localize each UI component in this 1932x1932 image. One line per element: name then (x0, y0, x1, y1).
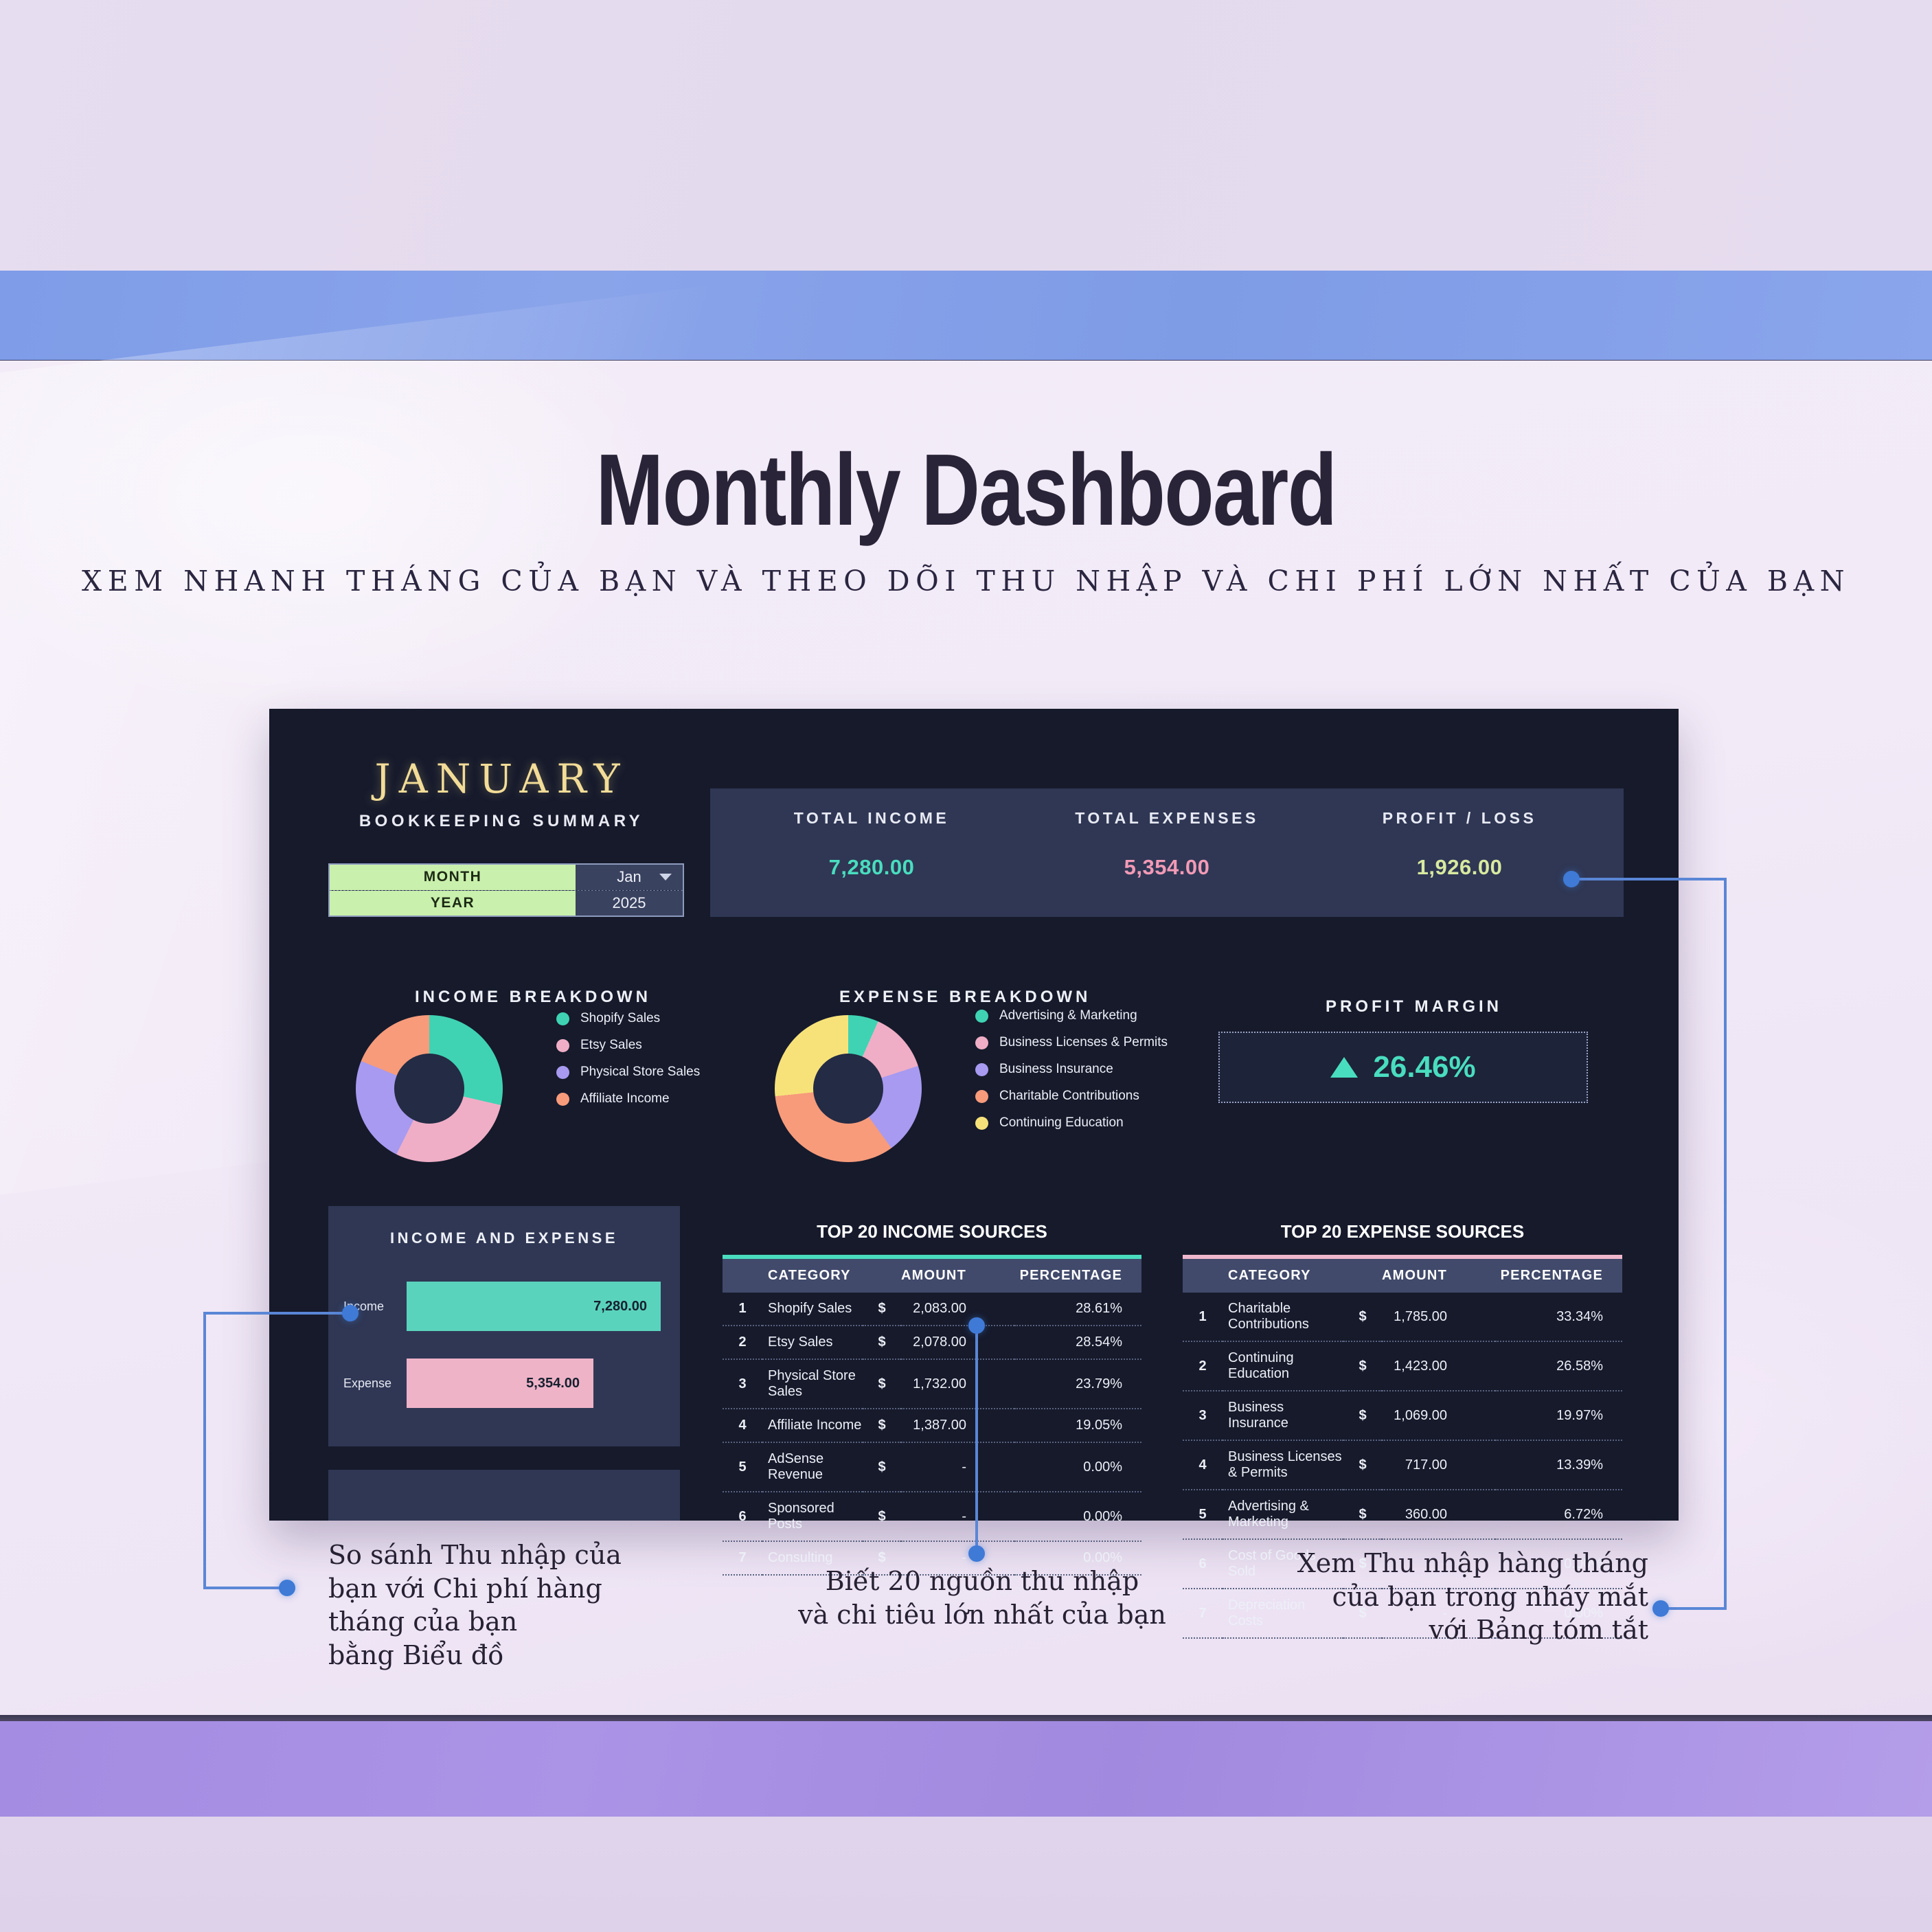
hero-header: Monthly Dashboard XEM NHANH THÁNG CỦA BẠ… (0, 440, 1932, 598)
wall-bottom-band (0, 1817, 1932, 1932)
legend-swatch-icon (975, 1063, 988, 1076)
triangle-up-icon (1330, 1057, 1358, 1078)
profit-margin-box: 26.46% (1218, 1032, 1588, 1103)
callout-line: với Bảng tóm tắt (1236, 1613, 1648, 1647)
th-index (723, 1259, 762, 1293)
bar-row-income: Income 7,280.00 (343, 1282, 666, 1331)
profit-margin-value: 26.46% (1373, 1050, 1475, 1084)
cell-category: Business Licenses & Permits (1223, 1440, 1343, 1490)
cell-currency: $ (1343, 1391, 1382, 1440)
legend-item: Charitable Contributions (975, 1089, 1168, 1104)
month-heading: JANUARY (357, 755, 646, 802)
cell-index: 1 (723, 1293, 762, 1326)
year-value-field[interactable]: 2025 (576, 891, 683, 916)
th-percentage[interactable]: PERCENTAGE (1014, 1259, 1141, 1293)
cell-percentage: 0.00% (1014, 1492, 1141, 1541)
cell-percentage: 19.97% (1495, 1391, 1622, 1440)
th-percentage[interactable]: PERCENTAGE (1495, 1259, 1622, 1293)
table-row[interactable]: 3 Physical Store Sales $ 1,732.00 23.79% (723, 1359, 1141, 1409)
legend-swatch-icon (975, 1117, 988, 1130)
connector-dot-kpi (1563, 871, 1580, 887)
month-year-selector[interactable]: MONTH Jan YEAR 2025 (328, 863, 684, 917)
cell-amount: 1,387.00 (901, 1409, 1014, 1442)
legend-swatch-icon (556, 1066, 569, 1079)
income-sources-table: CATEGORY AMOUNT PERCENTAGE 1 Shopify Sal… (723, 1259, 1141, 1576)
cell-index: 4 (1183, 1440, 1223, 1490)
table-row[interactable]: 6 Sponsored Posts $ - 0.00% (723, 1492, 1141, 1541)
bar-value-income: 7,280.00 (593, 1299, 647, 1315)
kpi-profit-loss-label: PROFIT / LOSS (1312, 809, 1607, 828)
month-dropdown[interactable]: Jan (576, 865, 683, 890)
cell-category: Affiliate Income (762, 1409, 863, 1442)
expense-breakdown-legend: Advertising & Marketing Business License… (975, 1008, 1168, 1142)
cell-amount: 1,423.00 (1382, 1341, 1495, 1391)
kpi-strip: TOTAL INCOME 7,280.00 TOTAL EXPENSES 5,3… (710, 788, 1624, 917)
legend-label: Etsy Sales (580, 1038, 642, 1053)
chevron-down-icon[interactable] (659, 874, 672, 880)
legend-swatch-icon (556, 1039, 569, 1052)
cell-category: Business Insurance (1223, 1391, 1343, 1440)
cell-amount: - (901, 1442, 1014, 1492)
cell-index: 2 (723, 1326, 762, 1359)
legend-label: Physical Store Sales (580, 1065, 700, 1080)
callout-line: của bạn trong nháy mắt (1236, 1580, 1648, 1614)
cell-currency: $ (1343, 1341, 1382, 1391)
kpi-total-expenses-value: 5,354.00 (1019, 855, 1315, 880)
legend-swatch-icon (975, 1010, 988, 1023)
profit-margin-title: PROFIT MARGIN (1326, 997, 1502, 1016)
kpi-total-expenses-label: TOTAL EXPENSES (1019, 809, 1315, 828)
cell-percentage: 13.39% (1495, 1440, 1622, 1490)
expense-breakdown-title: EXPENSE BREAKDOWN (839, 988, 1091, 1007)
legend-label: Business Insurance (999, 1062, 1113, 1077)
cell-percentage: 19.05% (1014, 1409, 1141, 1442)
cell-index: 2 (1183, 1341, 1223, 1391)
cell-amount: 1,785.00 (1382, 1293, 1495, 1341)
callout-line: và chi tiêu lớn nhất của bạn (755, 1598, 1209, 1632)
income-table-title-rest: INCOME SOURCES (878, 1221, 1047, 1242)
legend-swatch-icon (556, 1093, 569, 1106)
legend-item: Etsy Sales (556, 1038, 700, 1053)
cell-currency: $ (1343, 1293, 1382, 1341)
cell-currency: $ (863, 1326, 901, 1359)
income-sources-table-wrap: TOP 20 INCOME SOURCES CATEGORY AMOUNT PE… (723, 1221, 1141, 1576)
legend-item: Physical Store Sales (556, 1065, 700, 1080)
table-row[interactable]: 3 Business Insurance $ 1,069.00 19.97% (1183, 1391, 1622, 1440)
cell-amount: 360.00 (1382, 1490, 1495, 1539)
cell-percentage: 28.61% (1014, 1293, 1141, 1326)
cell-index: 3 (723, 1359, 762, 1409)
callout-line: tháng của bạn (328, 1605, 622, 1639)
th-currency (1343, 1259, 1382, 1293)
callout-line: Xem Thu nhập hàng tháng (1236, 1547, 1648, 1580)
income-sources-table-title: TOP 20 INCOME SOURCES (723, 1221, 1141, 1242)
th-category[interactable]: CATEGORY (1223, 1259, 1343, 1293)
income-breakdown-legend: Shopify Sales Etsy Sales Physical Store … (556, 1011, 700, 1118)
table-row[interactable]: 5 AdSense Revenue $ - 0.00% (723, 1442, 1141, 1492)
callout-line: So sánh Thu nhập của (328, 1538, 622, 1572)
cell-index: 4 (723, 1409, 762, 1442)
cell-category: Etsy Sales (762, 1326, 863, 1359)
table-row[interactable]: 4 Affiliate Income $ 1,387.00 19.05% (723, 1409, 1141, 1442)
kpi-total-income: TOTAL INCOME 7,280.00 (724, 809, 1019, 880)
callout-top-sources: Biết 20 nguồn thu nhập và chi tiêu lớn n… (755, 1565, 1209, 1631)
table-row[interactable]: 5 Advertising & Marketing $ 360.00 6.72% (1183, 1490, 1622, 1539)
cell-amount: 2,078.00 (901, 1326, 1014, 1359)
legend-item: Advertising & Marketing (975, 1008, 1168, 1023)
callout-line: bạn với Chi phí hàng (328, 1572, 622, 1606)
cell-currency: $ (863, 1359, 901, 1409)
month-label: MONTH (330, 865, 576, 890)
cell-category: Continuing Education (1223, 1341, 1343, 1391)
legend-swatch-icon (556, 1012, 569, 1025)
month-value: Jan (617, 868, 641, 886)
year-value: 2025 (613, 894, 646, 912)
month-subheading: BOOKKEEPING SUMMARY (343, 812, 659, 831)
bar-income: 7,280.00 (407, 1282, 661, 1331)
connector-dot-callout-left (279, 1580, 295, 1596)
legend-item: Continuing Education (975, 1115, 1168, 1130)
purple-wall-band (0, 1720, 1932, 1817)
table-row[interactable]: 1 Shopify Sales $ 2,083.00 28.61% (723, 1293, 1141, 1326)
cell-percentage: 33.34% (1495, 1293, 1622, 1341)
expense-table-title-rest: EXPENSE SOURCES (1341, 1221, 1524, 1242)
cell-percentage: 6.72% (1495, 1490, 1622, 1539)
cell-currency: $ (863, 1492, 901, 1541)
legend-label: Continuing Education (999, 1115, 1124, 1130)
th-currency (863, 1259, 901, 1293)
table-header-row: CATEGORY AMOUNT PERCENTAGE (723, 1259, 1141, 1293)
expense-breakdown-donut (775, 1015, 922, 1162)
legend-swatch-icon (975, 1090, 988, 1103)
year-selector-row[interactable]: YEAR 2025 (330, 890, 683, 916)
income-expense-chart-panel: INCOME AND EXPENSE Income 7,280.00 Expen… (328, 1206, 680, 1446)
legend-swatch-icon (975, 1036, 988, 1049)
cell-index: 5 (1183, 1490, 1223, 1539)
bar-row-expense: Expense 5,354.00 (343, 1359, 666, 1408)
cell-category: AdSense Revenue (762, 1442, 863, 1492)
callout-line: Biết 20 nguồn thu nhập (755, 1565, 1209, 1598)
kpi-total-income-value: 7,280.00 (724, 855, 1019, 880)
callout-line: bằng Biểu đồ (328, 1639, 622, 1672)
bar-value-expense: 5,354.00 (526, 1376, 580, 1391)
kpi-total-expenses: TOTAL EXPENSES 5,354.00 (1019, 809, 1315, 880)
bar-label-expense: Expense (343, 1376, 407, 1391)
legend-label: Affiliate Income (580, 1091, 670, 1106)
legend-item: Business Insurance (975, 1062, 1168, 1077)
table-row[interactable]: 2 Etsy Sales $ 2,078.00 28.54% (723, 1326, 1141, 1359)
income-breakdown-donut (356, 1015, 503, 1162)
cell-category: Shopify Sales (762, 1293, 863, 1326)
connector-dot-chart (342, 1305, 359, 1321)
cell-category: Advertising & Marketing (1223, 1490, 1343, 1539)
connector-dot-tables (968, 1317, 985, 1334)
cell-amount: 1,732.00 (901, 1359, 1014, 1409)
cell-percentage: 23.79% (1014, 1359, 1141, 1409)
th-amount[interactable]: AMOUNT (1382, 1259, 1495, 1293)
wall-top-band (0, 0, 1932, 271)
cell-category: Charitable Contributions (1223, 1293, 1343, 1341)
legend-label: Business Licenses & Permits (999, 1035, 1168, 1050)
cell-currency: $ (1343, 1490, 1382, 1539)
cell-percentage: 26.58% (1495, 1341, 1622, 1391)
kpi-total-income-label: TOTAL INCOME (724, 809, 1019, 828)
connector-dot-callout-mid (968, 1545, 985, 1562)
partial-panel-below (328, 1470, 680, 1521)
expense-table-title-bold: TOP 20 (1281, 1221, 1342, 1242)
cell-category: Physical Store Sales (762, 1359, 863, 1409)
th-category[interactable]: CATEGORY (762, 1259, 863, 1293)
kpi-profit-loss: PROFIT / LOSS 1,926.00 (1312, 809, 1607, 880)
table-header-row: CATEGORY AMOUNT PERCENTAGE (1183, 1259, 1622, 1293)
month-selector-row[interactable]: MONTH Jan (330, 865, 683, 890)
table-row[interactable]: 4 Business Licenses & Permits $ 717.00 1… (1183, 1440, 1622, 1490)
cell-currency: $ (863, 1293, 901, 1326)
cell-currency: $ (863, 1442, 901, 1492)
callout-summary-table: Xem Thu nhập hàng tháng của bạn trong nh… (1236, 1547, 1648, 1647)
income-expense-chart-title: INCOME AND EXPENSE (328, 1229, 680, 1247)
legend-item: Business Licenses & Permits (975, 1035, 1168, 1050)
connector-dot-callout-right (1652, 1600, 1669, 1617)
cell-percentage: 0.00% (1014, 1442, 1141, 1492)
legend-item: Shopify Sales (556, 1011, 700, 1026)
cell-index: 3 (1183, 1391, 1223, 1440)
th-amount[interactable]: AMOUNT (901, 1259, 1014, 1293)
callout-chart-comparison: So sánh Thu nhập của bạn với Chi phí hàn… (328, 1538, 622, 1672)
page-subtitle: XEM NHANH THÁNG CỦA BẠN VÀ THEO DÕI THU … (0, 565, 1932, 598)
cell-amount: 717.00 (1382, 1440, 1495, 1490)
table-row[interactable]: 2 Continuing Education $ 1,423.00 26.58% (1183, 1341, 1622, 1391)
cell-amount: 2,083.00 (901, 1293, 1014, 1326)
expense-sources-table-title: TOP 20 EXPENSE SOURCES (1183, 1221, 1622, 1242)
year-label: YEAR (330, 891, 576, 916)
cell-percentage: 28.54% (1014, 1326, 1141, 1359)
legend-item: Affiliate Income (556, 1091, 700, 1106)
cell-index: 5 (723, 1442, 762, 1492)
cell-currency: $ (863, 1409, 901, 1442)
table-row[interactable]: 1 Charitable Contributions $ 1,785.00 33… (1183, 1293, 1622, 1341)
income-breakdown-title: INCOME BREAKDOWN (415, 988, 651, 1007)
cell-currency: $ (1343, 1440, 1382, 1490)
cell-amount: - (901, 1492, 1014, 1541)
cell-index: 1 (1183, 1293, 1223, 1341)
bar-expense: 5,354.00 (407, 1359, 593, 1408)
legend-label: Charitable Contributions (999, 1089, 1139, 1104)
cell-category: Sponsored Posts (762, 1492, 863, 1541)
income-table-title-bold: TOP 20 (817, 1221, 878, 1242)
legend-label: Advertising & Marketing (999, 1008, 1137, 1023)
cell-amount: 1,069.00 (1382, 1391, 1495, 1440)
page-title: Monthly Dashboard (193, 440, 1738, 541)
legend-label: Shopify Sales (580, 1011, 660, 1026)
cell-index: 6 (723, 1492, 762, 1541)
th-index (1183, 1259, 1223, 1293)
